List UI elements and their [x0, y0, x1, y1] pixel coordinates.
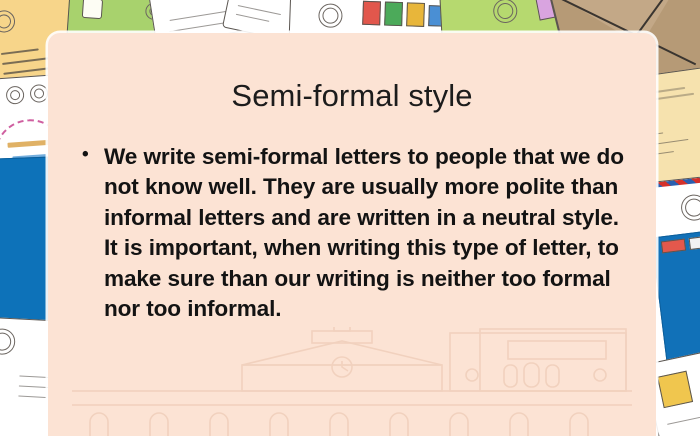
- postmark-icon: [6, 86, 25, 105]
- stamp-icon: [406, 2, 425, 27]
- postmark-icon: [0, 9, 16, 34]
- handwriting-line: [18, 396, 46, 398]
- stamp-icon: [689, 235, 700, 250]
- postmark-icon: [0, 328, 16, 355]
- page-title: Semi-formal style: [72, 79, 632, 113]
- list-item: We write semi-formal letters to people t…: [82, 142, 626, 324]
- bullet-list: We write semi-formal letters to people t…: [72, 142, 632, 324]
- postmark-icon: [318, 3, 343, 28]
- stamp-icon: [661, 239, 686, 254]
- handwriting-line: [667, 412, 700, 425]
- handwriting-line: [236, 14, 269, 22]
- handwriting-line: [19, 376, 51, 379]
- stamp-icon: [82, 0, 103, 19]
- stamp-icon: [384, 2, 403, 27]
- card-inner: Semi-formal style We write semi-formal l…: [48, 79, 656, 436]
- content-card: Semi-formal style We write semi-formal l…: [48, 33, 656, 436]
- handwriting-line: [1, 48, 39, 54]
- postmark-icon: [493, 0, 518, 24]
- postmark-icon: [29, 84, 48, 103]
- stamp-icon: [362, 1, 381, 26]
- slide-root: Semi-formal style We write semi-formal l…: [0, 0, 700, 436]
- handwriting-line: [238, 5, 281, 15]
- postcard-illustration: [657, 371, 693, 409]
